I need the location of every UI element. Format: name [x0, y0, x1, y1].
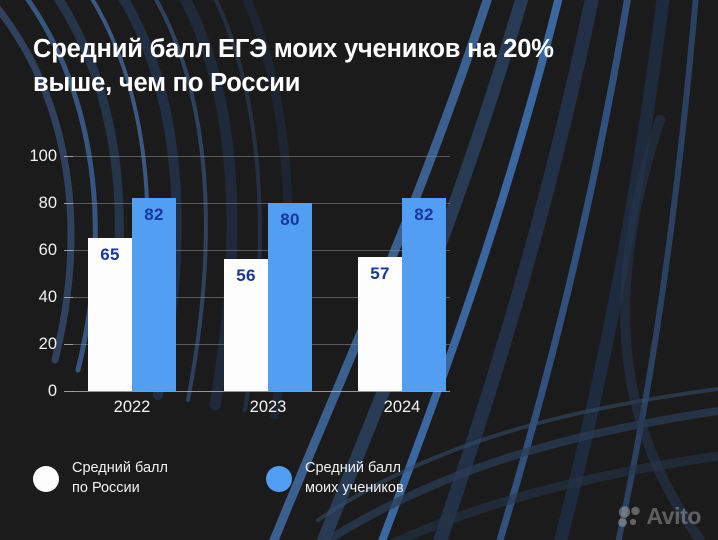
chart-legend: Средний балл по России Средний балл моих…: [33, 459, 404, 498]
bar-value-2022-russia: 65: [88, 245, 132, 265]
bar-2022-russia[interactable]: 65: [88, 238, 132, 391]
bar-2024-students[interactable]: 82: [402, 198, 446, 391]
bar-value-2022-students: 82: [132, 205, 176, 225]
bar-2024-russia[interactable]: 57: [358, 257, 402, 391]
bar-2022-students[interactable]: 82: [132, 198, 176, 391]
bar-2023-russia[interactable]: 56: [224, 259, 268, 391]
ytick-mark-0: [64, 391, 73, 392]
avito-watermark: Avito: [617, 505, 701, 528]
bar-value-2023-students: 80: [268, 210, 312, 230]
ytick-label-40: 40: [5, 289, 57, 306]
xtick-label-2023: 2023: [218, 399, 318, 416]
ytick-label-0: 0: [5, 383, 57, 400]
ytick-mark-60: [64, 250, 73, 251]
legend-label-russia: Средний балл по России: [72, 459, 168, 498]
infographic-card: Средний балл ЕГЭ моих учеников на 20% вы…: [0, 0, 718, 540]
ytick-mark-80: [64, 203, 73, 204]
legend-item-russia[interactable]: Средний балл по России: [33, 459, 266, 498]
ytick-mark-100: [64, 156, 73, 157]
legend-label-students: Средний балл моих учеников: [305, 459, 404, 498]
ytick-mark-40: [64, 297, 73, 298]
xtick-label-2022: 2022: [82, 399, 182, 416]
ytick-label-100: 100: [5, 148, 57, 165]
gridline-100: [72, 156, 450, 157]
xtick-label-2024: 2024: [352, 399, 452, 416]
ytick-label-80: 80: [5, 195, 57, 212]
gridline-80: [72, 203, 450, 204]
bar-value-2023-russia: 56: [224, 266, 268, 286]
avito-wordmark: Avito: [646, 505, 701, 528]
bar-2023-students[interactable]: 80: [268, 203, 312, 391]
legend-item-students[interactable]: Средний балл моих учеников: [266, 459, 404, 498]
ytick-label-60: 60: [5, 242, 57, 259]
bar-value-2024-russia: 57: [358, 264, 402, 284]
gridline-0: [72, 391, 450, 392]
ytick-label-20: 20: [5, 336, 57, 353]
legend-swatch-circle-icon-russia: [33, 466, 59, 492]
ytick-mark-20: [64, 344, 73, 345]
legend-swatch-circle-icon-students: [266, 466, 292, 492]
bar-value-2024-students: 82: [402, 205, 446, 225]
avito-dots-icon: [617, 506, 641, 528]
